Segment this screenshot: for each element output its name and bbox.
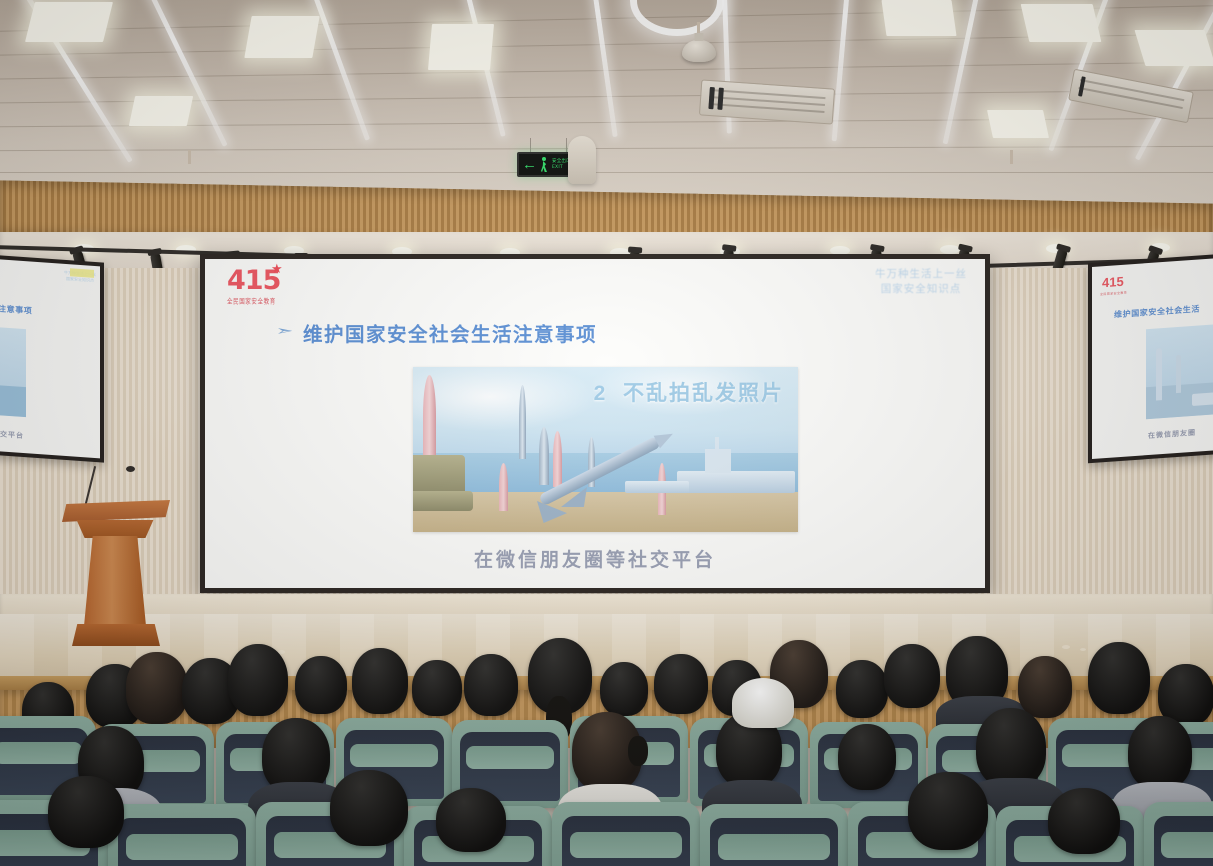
auditorium-seat [108,804,256,866]
audience-head [464,654,518,716]
monitor-left-caption: 在微信朋友圈等社交平台 [0,425,24,441]
ceiling-panel-light [428,24,494,70]
warship-shape [677,471,795,493]
audience-head [1088,642,1150,714]
air-conditioner-vent [699,79,835,124]
downlight [940,245,960,254]
audience-head [436,788,506,852]
ceiling-panel-light [881,0,956,36]
monitor-right-caption: 在微信朋友圈 [1148,428,1196,441]
audience-head [836,660,888,718]
audience-head [352,648,408,714]
picture-heading-number: 2 [594,382,608,405]
audience-head [1018,656,1072,718]
monitor-right-logo-subtitle: 全民国家安全教育 [1100,291,1127,297]
picture-heading: 2 不乱拍乱发照片 [594,377,784,407]
slide-corner-note: 牛万种生活上一丝 国家安全知识点 [875,267,967,297]
warship-tower [705,449,731,473]
audience-head [1048,788,1120,854]
audience-head [48,776,124,848]
side-monitor-left: 牛万种生活上一丝 国家安全知识点 维护国家安全社会生活注意事项 不乱拍乱发照片 … [0,253,104,462]
ceiling-panel-light [1134,30,1213,66]
wall-mounted-fan [568,136,596,184]
bullet-arrow-icon: ➣ [276,323,293,339]
audience-head [1128,716,1192,790]
slide-picture: 2 不乱拍乱发照片 [413,367,798,532]
audience-head [976,708,1046,788]
projection-screen: ★ 415 全民国家安全教育 牛万种生活上一丝 国家安全知识点 ➣ 维护国家安全… [200,254,990,593]
logo-subtitle: 全民国家安全教育 [227,296,315,306]
rocket-shape [499,463,508,511]
monitor-right-picture [1146,322,1213,419]
ceiling-panel-light [25,2,113,42]
audience-head [908,772,988,850]
picture-heading-text: 不乱拍乱发照片 [623,382,784,405]
running-man-icon [539,157,550,172]
rocket-shape [553,431,562,487]
ceiling [0,0,1213,205]
auditorium-seat [700,804,848,866]
rocket-shape [423,375,436,457]
ceiling-panel-light [987,110,1049,138]
slide-content: ★ 415 全民国家安全教育 牛万种生活上一丝 国家安全知识点 ➣ 维护国家安全… [205,259,985,588]
slide-caption: 在微信朋友圈等社交平台 [205,545,985,572]
exit-label-en: EXIT [552,165,563,170]
microphone-icon [126,466,135,472]
monitor-left-picture: 不乱拍乱发照片 [0,323,26,417]
rocket-shape [539,427,549,485]
slide-title: 维护国家安全社会生活注意事项 [303,318,597,347]
monitor-right-title: 维护国家安全社会生活 [1114,303,1200,320]
warship-mast [715,437,719,451]
auditorium-seat [552,802,700,866]
star-icon: ★ [271,262,283,275]
side-monitor-right: 415 全民国家安全教育 维护国家安全社会生活 在微信朋友圈 [1088,253,1213,463]
air-conditioner-vent [1068,69,1194,124]
audience-head [330,770,408,846]
ceiling-strip-light [577,0,617,137]
audience-head [600,662,648,716]
audience-ponytail [628,736,648,766]
corner-note-line2: 国家安全知识点 [881,283,962,295]
audience-head [654,654,708,714]
monitor-left-title: 维护国家安全社会生活注意事项 [0,297,32,316]
audience-head [884,644,940,708]
slide-logo: ★ 415 全民国家安全教育 [227,267,315,311]
ceiling-strip-light [1135,0,1213,161]
audience-head [295,656,347,714]
corner-note-line1: 牛万种生活上一丝 [875,268,967,280]
audience-head-with-cap [732,678,794,728]
audience-head [228,644,288,716]
ceiling-panel-light [244,16,319,58]
audience-head [412,660,462,716]
warship-shape [625,481,689,493]
monitor-right-logo: 415 [1102,275,1124,290]
dome-camera-icon [682,40,716,62]
audience-head [838,724,896,790]
audience-head [126,652,188,724]
launcher-vehicle [413,491,473,511]
rocket-shape [519,385,526,459]
ring-light [630,0,724,36]
left-arrow-icon: ← [522,157,537,172]
ceiling-panel-light [1021,4,1102,42]
audience-area [0,612,1213,866]
ceiling-panel-light [129,96,193,126]
lecture-hall-photo: ← 安全出口 EXIT 牛万种生活上一丝 国家安全知识点 维护国家安全社会生活注… [0,0,1213,866]
auditorium-seat [1144,802,1213,866]
